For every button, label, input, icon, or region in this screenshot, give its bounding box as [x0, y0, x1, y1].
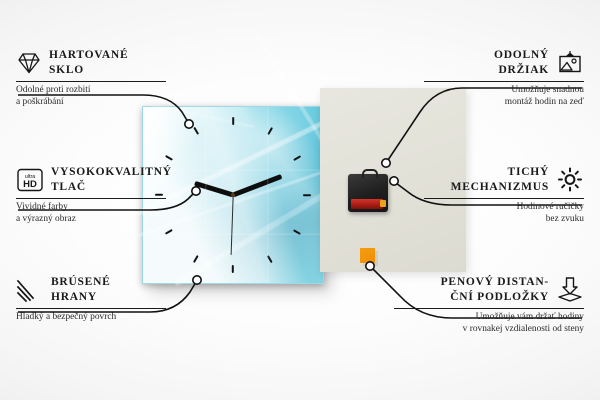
divider: [16, 198, 166, 199]
feature-title: PENOVÝ DISTAN- ČNÍ PODLOŽKY: [441, 275, 549, 304]
title-line: TLAČ: [51, 180, 172, 195]
connector-dot-right-3: [366, 262, 374, 270]
feature-description: Vividné farby a výrazný obraz: [16, 202, 166, 225]
feature-description: Hladký a bezpečný povrch: [16, 312, 166, 324]
badge-bottom-text: HD: [23, 179, 37, 190]
title-line: VYSOKOKVALITNÝ: [51, 165, 172, 180]
desc-line: Umožňuje vám držať hodiny: [394, 312, 584, 324]
divider: [394, 308, 584, 309]
divider: [424, 198, 584, 199]
desc-line: a výrazný obraz: [16, 214, 166, 226]
connector-dot-left-3: [193, 276, 201, 284]
desc-line: montáž hodin na zeď: [424, 97, 584, 109]
feature-title: HARTOVANÉ SKLO: [49, 48, 128, 77]
connector-dot-left-1: [185, 120, 193, 128]
title-line: ODOLNÝ: [494, 48, 549, 63]
feature-title: BRÚSENÉ HRANY: [51, 275, 111, 304]
feature-high-quality-print: ultra HD VYSOKOKVALITNÝ TLAČ Vividné far…: [16, 165, 166, 225]
divider: [16, 81, 166, 82]
desc-line: Vividné farby: [16, 202, 166, 214]
picture-frame-hanger-icon: [556, 50, 584, 76]
diagonal-lines-icon: [16, 278, 44, 302]
title-line: HRANY: [51, 290, 111, 305]
infographic-canvas: HARTOVANÉ SKLO Odolné proti rozbití a po…: [0, 0, 600, 400]
desc-line: v rovnakej vzdialenosti od steny: [394, 324, 584, 336]
gear-icon: [556, 166, 584, 193]
desc-line: Odolné proti rozbití: [16, 85, 166, 97]
feature-description: Umožňuje snadnou montáž hodin na zeď: [424, 85, 584, 108]
desc-line: Umožňuje snadnou: [424, 85, 584, 97]
title-line: SKLO: [49, 63, 128, 78]
divider: [16, 308, 166, 309]
feature-title: VYSOKOKVALITNÝ TLAČ: [51, 165, 172, 194]
desc-line: Hodinové ručičky: [424, 202, 584, 214]
feature-title: TICHÝ MECHANIZMUS: [451, 165, 549, 194]
desc-line: bez zvuku: [424, 214, 584, 226]
ultra-hd-badge-icon: ultra HD: [16, 167, 44, 193]
connector-dot-left-2: [192, 187, 200, 195]
connector-dot-right-1: [382, 159, 390, 167]
title-line: PENOVÝ DISTAN-: [441, 275, 549, 290]
diamond-icon: [16, 51, 42, 75]
title-line: DRŽIAK: [494, 63, 549, 78]
title-line: HARTOVANÉ: [49, 48, 128, 63]
desc-line: a poškrábání: [16, 97, 166, 109]
feature-silent-mechanism: TICHÝ MECHANIZMUS Hodinové ručičky bez z…: [424, 165, 584, 225]
feature-description: Umožňuje vám držať hodiny v rovnakej vzd…: [394, 312, 584, 335]
feature-title: ODOLNÝ DRŽIAK: [494, 48, 549, 77]
title-line: BRÚSENÉ: [51, 275, 111, 290]
feature-foam-spacers: PENOVÝ DISTAN- ČNÍ PODLOŽKY Umožňuje vám…: [394, 275, 584, 335]
feature-description: Odolné proti rozbití a poškrábání: [16, 85, 166, 108]
arrow-onto-pad-icon: [556, 276, 584, 304]
feature-description: Hodinové ručičky bez zvuku: [424, 202, 584, 225]
divider: [424, 81, 584, 82]
feature-durable-hanger: ODOLNÝ DRŽIAK Umožňuje snadnou montáž ho…: [424, 48, 584, 108]
title-line: MECHANIZMUS: [451, 180, 549, 195]
feature-ground-edges: BRÚSENÉ HRANY Hladký a bezpečný povrch: [16, 275, 166, 324]
desc-line: Hladký a bezpečný povrch: [16, 312, 166, 324]
title-line: TICHÝ: [451, 165, 549, 180]
connector-dot-right-2: [390, 177, 398, 185]
feature-hardened-glass: HARTOVANÉ SKLO Odolné proti rozbití a po…: [16, 48, 166, 108]
title-line: ČNÍ PODLOŽKY: [441, 290, 549, 305]
